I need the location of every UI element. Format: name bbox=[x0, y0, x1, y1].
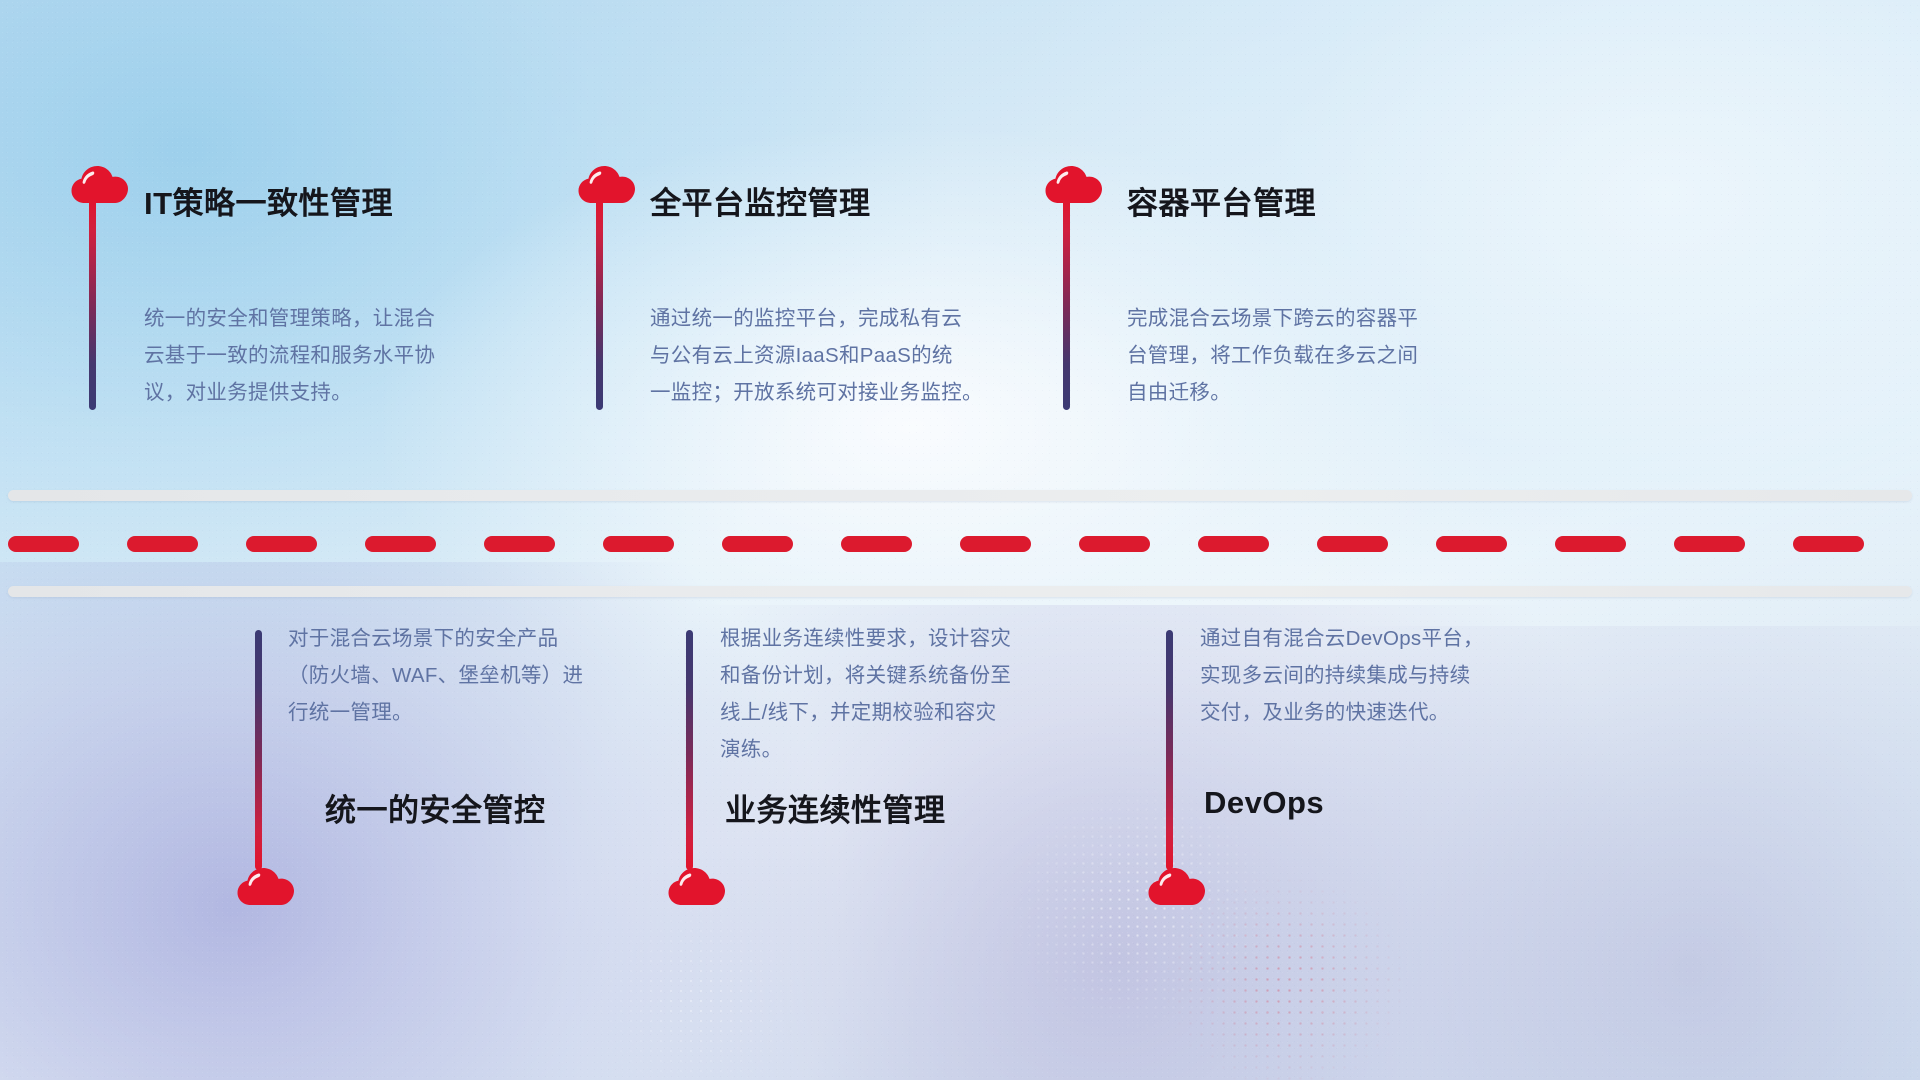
road-center-dashes bbox=[0, 536, 1920, 552]
cloud-icon bbox=[575, 160, 637, 204]
top-column-3-body: 完成混合云场景下跨云的容器平 台管理，将工作负载在多云之间 自由迁移。 bbox=[1127, 300, 1577, 411]
cloud-icon bbox=[1042, 160, 1104, 204]
connector-stem bbox=[596, 198, 603, 410]
cloud-icon bbox=[665, 862, 727, 906]
bottom-column-1-title: 统一的安全管控 bbox=[325, 785, 546, 830]
bottom-column-3: 通过自有混合云DevOps平台， 实现多云间的持续集成与持续 交付，及业务的快速… bbox=[1200, 630, 1670, 950]
bottom-column-2-title: 业务连续性管理 bbox=[725, 785, 946, 830]
bottom-column-3-title: DevOps bbox=[1204, 785, 1324, 821]
cloud-icon bbox=[68, 160, 130, 204]
road-divider bbox=[0, 490, 1920, 600]
cloud-icon bbox=[1145, 862, 1207, 906]
top-column-2-title: 全平台监控管理 bbox=[650, 178, 871, 223]
road-dash bbox=[960, 536, 1031, 552]
bottom-column-1-body: 对于混合云场景下的安全产品 （防火墙、WAF、堡垒机等）进 行统一管理。 bbox=[288, 620, 718, 731]
bottom-column-1: 对于混合云场景下的安全产品 （防火墙、WAF、堡垒机等）进 行统一管理。 统一的… bbox=[260, 630, 730, 950]
bottom-column-2-body: 根据业务连续性要求，设计容灾 和备份计划，将关键系统备份至 线上/线下，并定期校… bbox=[720, 620, 1160, 768]
top-column-2-body: 通过统一的监控平台，完成私有云 与公有云上资源IaaS和PaaS的统 一监控；开… bbox=[650, 300, 1120, 411]
bottom-column-3-body: 通过自有混合云DevOps平台， 实现多云间的持续集成与持续 交付，及业务的快速… bbox=[1200, 620, 1640, 731]
road-line-bottom bbox=[8, 586, 1912, 597]
road-dash bbox=[1674, 536, 1745, 552]
road-dash bbox=[1317, 536, 1388, 552]
road-dash bbox=[722, 536, 793, 552]
road-dash bbox=[1198, 536, 1269, 552]
top-column-3-title: 容器平台管理 bbox=[1127, 178, 1316, 223]
top-column-1-title: IT策略一致性管理 bbox=[144, 178, 393, 223]
road-dash bbox=[603, 536, 674, 552]
road-dash bbox=[8, 536, 79, 552]
bottom-column-2: 根据业务连续性要求，设计容灾 和备份计划，将关键系统备份至 线上/线下，并定期校… bbox=[730, 630, 1200, 950]
road-dash bbox=[1436, 536, 1507, 552]
road-dash bbox=[1793, 536, 1864, 552]
connector-stem bbox=[89, 198, 96, 410]
road-dash bbox=[1555, 536, 1626, 552]
road-line-top bbox=[8, 490, 1912, 501]
road-dash bbox=[127, 536, 198, 552]
road-dash bbox=[246, 536, 317, 552]
top-column-3: 容器平台管理 完成混合云场景下跨云的容器平 台管理，将工作负载在多云之间 自由迁… bbox=[1150, 160, 1620, 500]
top-column-1-body: 统一的安全和管理策略，让混合 云基于一致的流程和服务水平协 议，对业务提供支持。 bbox=[144, 300, 584, 411]
road-dash bbox=[1079, 536, 1150, 552]
top-column-2: 全平台监控管理 通过统一的监控平台，完成私有云 与公有云上资源IaaS和PaaS… bbox=[680, 160, 1150, 500]
road-dash bbox=[841, 536, 912, 552]
connector-stem bbox=[686, 630, 693, 870]
connector-stem bbox=[255, 630, 262, 870]
connector-stem bbox=[1166, 630, 1173, 870]
connector-stem bbox=[1063, 198, 1070, 410]
road-dash bbox=[484, 536, 555, 552]
road-dash bbox=[365, 536, 436, 552]
cloud-icon bbox=[234, 862, 296, 906]
top-column-1: IT策略一致性管理 统一的安全和管理策略，让混合 云基于一致的流程和服务水平协 … bbox=[100, 160, 570, 500]
